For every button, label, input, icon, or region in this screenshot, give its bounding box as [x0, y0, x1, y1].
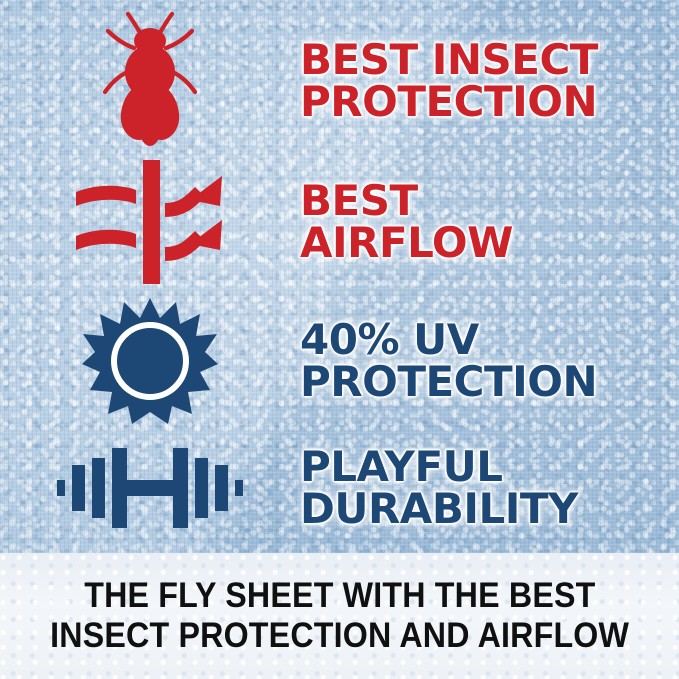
footer-caption-band: THE FLY SHEET WITH THE BEST INSECT PROTE… — [0, 553, 679, 679]
feature-line-1: BEST — [300, 180, 679, 222]
feature-line-2: PROTECTION — [300, 81, 679, 123]
feature-line-2: PROTECTION — [300, 361, 679, 403]
text-cell-durability: PLAYFUL DURABILITY — [300, 446, 679, 530]
icon-cell-insect-protection — [0, 10, 300, 152]
feature-line-1: BEST INSECT — [300, 39, 679, 81]
text-cell-uv-protection: 40% UV PROTECTION — [300, 319, 679, 403]
sun-uv-icon — [82, 296, 218, 426]
dumbbell-icon — [55, 439, 245, 537]
footer-line-1: THE FLY SHEET WITH THE BEST — [84, 576, 595, 616]
feature-row-durability: PLAYFUL DURABILITY — [0, 432, 679, 544]
feature-line-1: 40% UV — [300, 319, 679, 361]
feature-line-2: AIRFLOW — [300, 222, 679, 264]
text-cell-airflow: BEST AIRFLOW — [300, 180, 679, 264]
feature-row-insect-protection: BEST INSECT PROTECTION — [0, 8, 679, 153]
feature-row-airflow: BEST AIRFLOW — [0, 158, 679, 286]
icon-cell-uv-protection — [0, 296, 300, 426]
text-cell-insect-protection: BEST INSECT PROTECTION — [300, 39, 679, 123]
product-feature-infographic: BEST INSECT PROTECTION — [0, 0, 679, 679]
fly-icon — [90, 10, 210, 152]
feature-row-uv-protection: 40% UV PROTECTION — [0, 296, 679, 426]
feature-line-2: DURABILITY — [300, 488, 679, 530]
airflow-icon — [70, 158, 230, 286]
icon-cell-durability — [0, 439, 300, 537]
footer-line-2: INSECT PROTECTION AND AIRFLOW — [50, 616, 629, 656]
feature-line-1: PLAYFUL — [300, 446, 679, 488]
icon-cell-airflow — [0, 158, 300, 286]
